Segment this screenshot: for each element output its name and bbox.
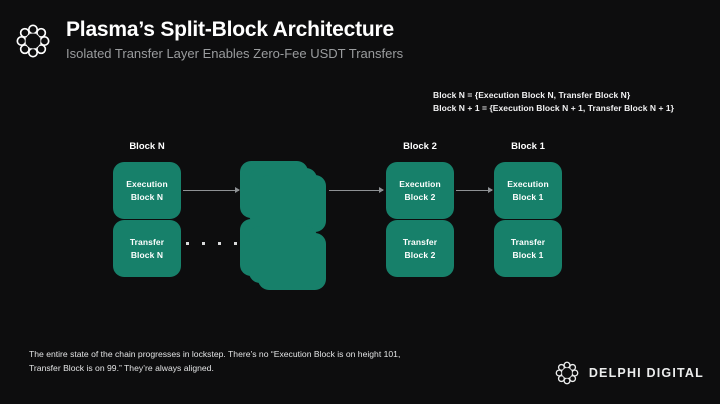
ellipsis-dot	[234, 242, 237, 245]
card-execution-block-1-line1: Execution	[507, 178, 549, 190]
slide-header: Plasma’s Split-Block Architecture Isolat…	[14, 18, 403, 62]
card-transfer-block-n[interactable]: Transfer Block N	[113, 220, 181, 277]
block-definition-formula: Block N = {Execution Block N, Transfer B…	[433, 89, 674, 115]
card-transfer-block-1[interactable]: Transfer Block 1	[494, 220, 562, 277]
arrow-block-n-to-stack	[183, 190, 239, 191]
card-execution-block-1[interactable]: Execution Block 1	[494, 162, 562, 219]
arrow-stack-to-block-2	[329, 190, 383, 191]
card-transfer-block-n-line1: Transfer	[130, 236, 164, 248]
formula-line-2: Block N + 1 = {Execution Block N + 1, Tr…	[433, 102, 674, 115]
header-text-group: Plasma’s Split-Block Architecture Isolat…	[66, 18, 403, 62]
slide-canvas: Plasma’s Split-Block Architecture Isolat…	[0, 0, 720, 404]
delphi-knot-logo-icon	[14, 22, 52, 60]
card-transfer-block-n-line2: Block N	[131, 249, 163, 261]
card-transfer-block-2[interactable]: Transfer Block 2	[386, 220, 454, 277]
card-transfer-block-2-line1: Transfer	[403, 236, 437, 248]
arrow-block-2-to-block-1	[456, 190, 492, 191]
card-execution-block-n-line2: Block N	[131, 191, 163, 203]
card-execution-block-n[interactable]: Execution Block N	[113, 162, 181, 219]
card-transfer-block-1-line2: Block 1	[513, 249, 544, 261]
card-execution-block-2-line2: Block 2	[405, 191, 436, 203]
card-execution-block-n-line1: Execution	[126, 178, 168, 190]
page-title: Plasma’s Split-Block Architecture	[66, 18, 403, 41]
footnote-text: The entire state of the chain progresses…	[29, 347, 429, 375]
stack-transfer-card-front[interactable]	[258, 233, 326, 290]
column-label-block-n: Block N	[113, 141, 181, 152]
column-label-block-2: Block 2	[386, 141, 454, 152]
delphi-knot-logo-icon	[554, 360, 580, 386]
footer-brand: DELPHI DIGITAL	[554, 360, 704, 386]
ellipsis-dot	[186, 242, 189, 245]
ellipsis-dots	[186, 242, 237, 245]
card-execution-block-2-line1: Execution	[399, 178, 441, 190]
formula-line-1: Block N = {Execution Block N, Transfer B…	[433, 89, 674, 102]
card-execution-block-1-line2: Block 1	[513, 191, 544, 203]
column-label-block-1: Block 1	[494, 141, 562, 152]
card-execution-block-2[interactable]: Execution Block 2	[386, 162, 454, 219]
footer-brand-name: DELPHI DIGITAL	[589, 366, 704, 380]
ellipsis-dot	[218, 242, 221, 245]
card-transfer-block-2-line2: Block 2	[405, 249, 436, 261]
card-transfer-block-1-line1: Transfer	[511, 236, 545, 248]
ellipsis-dot	[202, 242, 205, 245]
page-subtitle: Isolated Transfer Layer Enables Zero-Fee…	[66, 46, 403, 62]
